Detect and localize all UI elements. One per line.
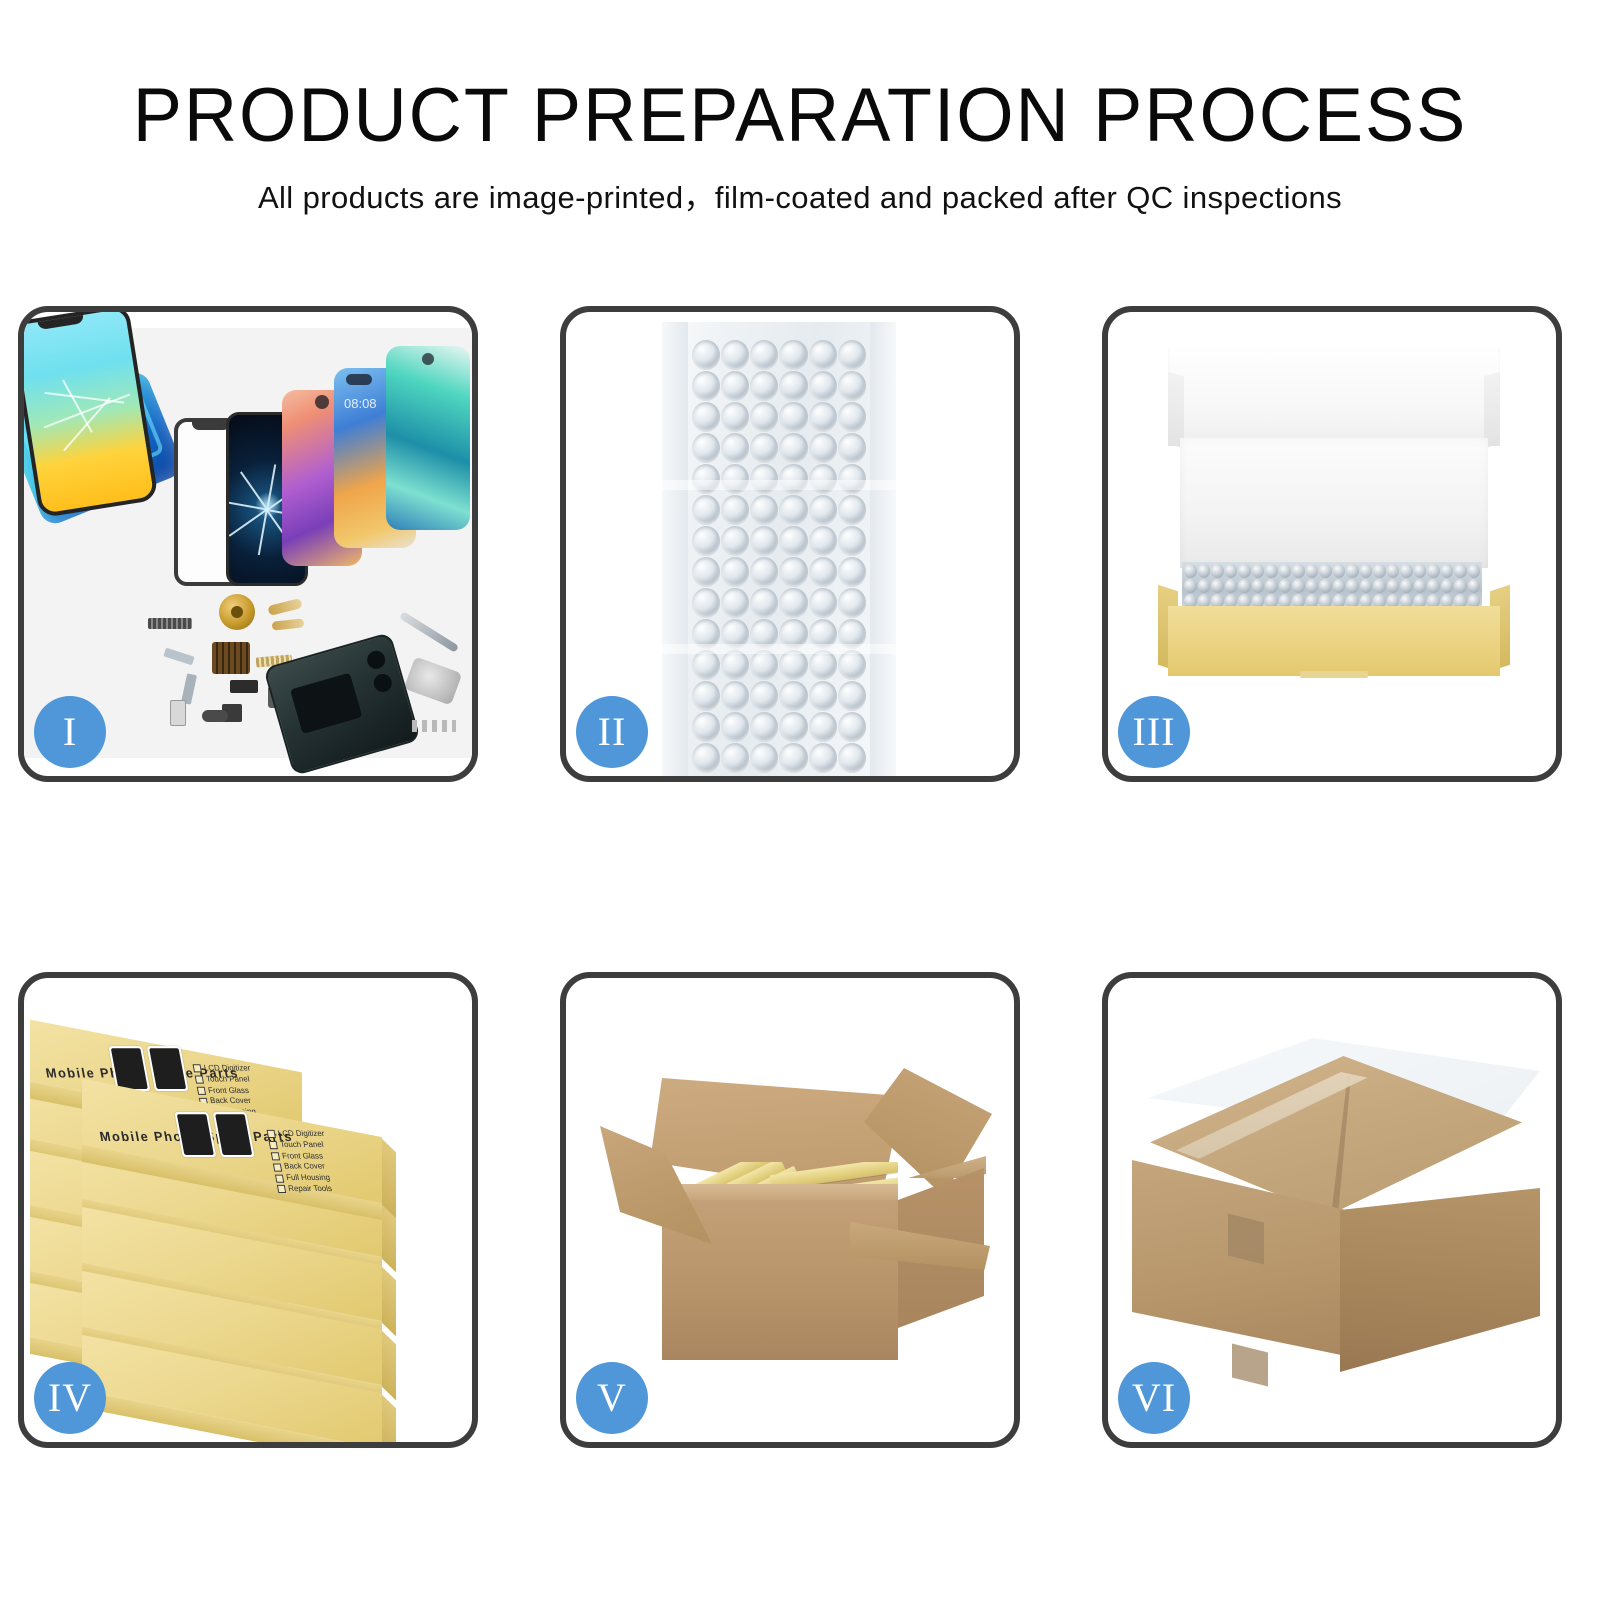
button-part	[202, 710, 228, 722]
tape-patch-lower	[1232, 1344, 1268, 1387]
phone-clock-text: 08:08	[344, 396, 377, 411]
step-numeral-2: II	[598, 712, 627, 752]
checklist-item: Repair Tools	[287, 1184, 333, 1195]
box-locking-tab	[1300, 671, 1368, 678]
process-step-grid: 08:08	[18, 306, 1564, 1448]
step-badge-5: V	[576, 1362, 648, 1434]
step-badge-4: IV	[34, 1362, 106, 1434]
retail-box-checklist-lower: LCD Digitizer Touch Panel Front Glass Ba…	[266, 1129, 335, 1195]
screen-thumbnail	[174, 1112, 216, 1157]
checklist-item: LCD Digitizer	[203, 1063, 251, 1074]
box-inner-liner	[1180, 438, 1488, 568]
carton-face-right	[1340, 1188, 1540, 1372]
small-module-part-1	[230, 680, 258, 693]
sealed-shipping-carton	[1132, 1038, 1540, 1382]
bubble-wrap-pouch	[662, 322, 896, 776]
checklist-item: Back Cover	[283, 1162, 326, 1173]
crack-lines	[267, 509, 269, 510]
infographic-page: PRODUCT PREPARATION PROCESS All products…	[0, 0, 1600, 1600]
step-panel-5[interactable]: V	[560, 972, 1020, 1448]
pouch-seal-right	[870, 322, 896, 776]
bubble-grid	[692, 340, 866, 762]
checklist-item: Touch Panel	[205, 1074, 250, 1085]
box-lid-flap	[1168, 346, 1500, 446]
teal-phone-display	[386, 346, 470, 530]
retail-box-thumbnails-upper	[108, 1046, 188, 1091]
connector-strip-part	[148, 618, 192, 629]
pouch-crease-2	[662, 644, 896, 654]
step-numeral-5: V	[597, 1378, 627, 1418]
open-shipping-carton	[602, 1064, 982, 1394]
step-badge-6: VI	[1118, 1362, 1190, 1434]
checklist-item: Front Glass	[207, 1085, 250, 1096]
step-numeral-1: I	[63, 712, 77, 752]
header: PRODUCT PREPARATION PROCESS All products…	[0, 0, 1600, 216]
checklist-item: Front Glass	[281, 1151, 324, 1162]
step-panel-2[interactable]: II	[560, 306, 1020, 782]
page-title: PRODUCT PREPARATION PROCESS	[24, 0, 1576, 154]
pouch-crease-1	[662, 480, 896, 490]
tape-patch-upper	[1228, 1214, 1264, 1265]
checklist-item: Touch Panel	[279, 1140, 324, 1151]
retail-box-thumbnails-lower	[174, 1112, 254, 1157]
bubble-wrap-insert	[1182, 562, 1482, 610]
step-badge-1: I	[34, 696, 106, 768]
checklist-item: LCD Digitizer	[277, 1129, 325, 1140]
step-badge-3: III	[1118, 696, 1190, 768]
retail-box-stack: Mobile Phone Spare Parts LCD Digitizer T…	[30, 1024, 466, 1424]
step-numeral-3: III	[1133, 712, 1176, 752]
page-subtitle: All products are image-printed，film-coat…	[0, 154, 1600, 216]
open-mailer-box	[1158, 346, 1510, 714]
insert-bubble-grid	[1184, 564, 1480, 608]
checklist-item: Full Housing	[285, 1173, 331, 1184]
pouch-seal-left	[662, 322, 688, 776]
process-row-top: 08:08	[18, 306, 1564, 782]
sim-tray-part	[170, 700, 186, 726]
step-numeral-6: VI	[1132, 1378, 1176, 1418]
box-front-panel	[1168, 606, 1500, 676]
step-panel-4[interactable]: Mobile Phone Spare Parts LCD Digitizer T…	[18, 972, 478, 1448]
step-panel-6[interactable]: VI	[1102, 972, 1562, 1448]
screws-parts	[412, 720, 456, 732]
process-row-bottom: Mobile Phone Spare Parts LCD Digitizer T…	[18, 972, 1564, 1448]
speaker-coil-part	[219, 594, 255, 630]
step-panel-3[interactable]: III	[1102, 306, 1562, 782]
step-panel-1[interactable]: 08:08	[18, 306, 478, 782]
step-badge-2: II	[576, 696, 648, 768]
step-numeral-4: IV	[48, 1378, 92, 1418]
ic-chip-part	[212, 642, 250, 674]
